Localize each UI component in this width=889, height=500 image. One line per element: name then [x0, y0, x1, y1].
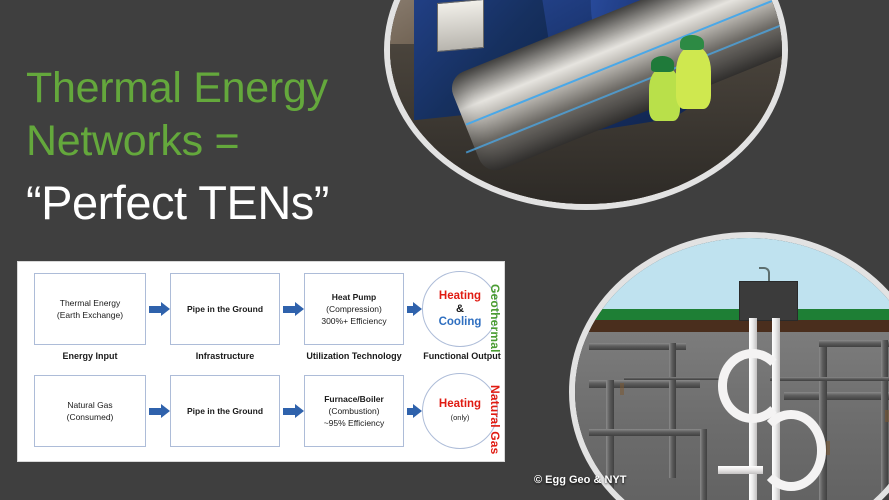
output-heating-label: Heating [439, 290, 481, 303]
output-cooling-label: Cooling [439, 316, 482, 329]
box-line-2: (Compression) [326, 303, 382, 315]
box-line-3: 300%+ Efficiency [321, 315, 386, 327]
box-energy-input-geothermal: Thermal Energy (Earth Exchange) [34, 273, 146, 345]
arrow-shaft [149, 306, 161, 313]
grass-line [575, 309, 889, 320]
pipe-fusion-photo [384, 0, 788, 210]
comparison-diagram-panel: Thermal Energy (Earth Exchange) Pipe in … [18, 262, 504, 461]
gray-pipe-h7 [624, 377, 728, 380]
box-line-2: (Earth Exchange) [57, 309, 123, 321]
box-line-1: Furnace/Boiler [324, 393, 384, 405]
worker-hardhat-2 [680, 35, 704, 50]
title-line-1: Thermal Energy [26, 62, 406, 115]
arrow-geo-3 [407, 304, 422, 314]
side-label-geothermal: Geothermal [488, 276, 502, 360]
side-label-natural-gas: Natural Gas [488, 378, 502, 462]
box-line-1: Pipe in the Ground [187, 303, 263, 315]
output-only-label: (only) [451, 411, 470, 424]
dollar-tail-pipe [718, 466, 763, 474]
pipe-fusion-scene [390, 0, 782, 204]
slide-canvas: Thermal Energy Networks = “Perfect TENs” [0, 0, 889, 500]
arrow-shaft [283, 408, 295, 415]
arrow-gas-2 [283, 406, 304, 416]
arrow-head [413, 404, 422, 418]
output-heating-label: Heating [439, 398, 481, 411]
worker-vest-2 [676, 47, 711, 109]
sky [575, 238, 889, 309]
arrow-head [413, 302, 422, 316]
box-energy-input-natural-gas: Natural Gas (Consumed) [34, 375, 146, 447]
box-infrastructure-geothermal: Pipe in the Ground [170, 273, 280, 345]
gray-pipe-v3 [700, 429, 707, 500]
output-ampersand: & [456, 303, 464, 316]
dollar-curve-bottom [756, 410, 826, 490]
topsoil-layer [575, 320, 889, 332]
arrow-shaft [283, 306, 295, 313]
gray-pipe-h5 [819, 340, 889, 347]
circle-output-geothermal: Heating & Cooling [422, 271, 498, 347]
box-line-1: Natural Gas [67, 399, 112, 411]
worker-hardhat-1 [651, 56, 675, 71]
gray-pipe-v2 [669, 343, 676, 479]
control-panel-box [437, 0, 484, 52]
box-line-2: (Consumed) [67, 411, 114, 423]
arrow-head [295, 302, 304, 316]
utility-vault-box [739, 281, 798, 321]
box-line-1: Pipe in the Ground [187, 405, 263, 417]
circle-output-natural-gas: Heating (only) [422, 373, 498, 449]
gray-pipe-v4 [819, 340, 827, 500]
dollar-pipe-scene [575, 238, 889, 500]
column-label-row: Energy Input Infrastructure Utilization … [34, 351, 490, 367]
column-label-energy-input: Energy Input [34, 351, 146, 361]
rust-spot-1 [620, 383, 624, 395]
rust-spot-3 [885, 410, 889, 422]
box-line-2: (Combustion) [328, 405, 379, 417]
underground-pipes-dollar-illustration [569, 232, 889, 500]
diagram-row-natural-gas: Natural Gas (Consumed) Pipe in the Groun… [34, 375, 490, 447]
box-line-3: ~95% Efficiency [324, 417, 385, 429]
box-line-1: Heat Pump [332, 291, 376, 303]
box-infrastructure-natural-gas: Pipe in the Ground [170, 375, 280, 447]
arrow-geo-2 [283, 304, 304, 314]
gray-pipe-h6 [770, 377, 889, 381]
arrow-head [161, 404, 170, 418]
box-line-1: Thermal Energy [60, 297, 120, 309]
box-utilization-natural-gas: Furnace/Boiler (Combustion) ~95% Efficie… [304, 375, 404, 447]
arrow-gas-1 [149, 406, 170, 416]
gray-pipe-h3 [589, 429, 707, 436]
page-title: Thermal Energy Networks = “Perfect TENs” [26, 62, 406, 234]
column-label-infrastructure: Infrastructure [170, 351, 280, 361]
column-label-utilization-technology: Utilization Technology [292, 351, 416, 361]
box-utilization-geothermal: Heat Pump (Compression) 300%+ Efficiency [304, 273, 404, 345]
arrow-shaft [149, 408, 161, 415]
title-line-2: Networks = [26, 115, 406, 168]
diagram-row-geothermal: Thermal Energy (Earth Exchange) Pipe in … [34, 273, 490, 345]
gray-pipe-h4 [784, 392, 889, 400]
arrow-gas-3 [407, 406, 422, 416]
arrow-head [161, 302, 170, 316]
title-line-3: “Perfect TENs” [26, 172, 406, 234]
arrow-head [295, 404, 304, 418]
dollar-curve-top [718, 349, 788, 423]
rust-spot-2 [826, 441, 830, 455]
copyright-notice: © Egg Geo & NYT [534, 474, 626, 486]
arrow-geo-1 [149, 304, 170, 314]
